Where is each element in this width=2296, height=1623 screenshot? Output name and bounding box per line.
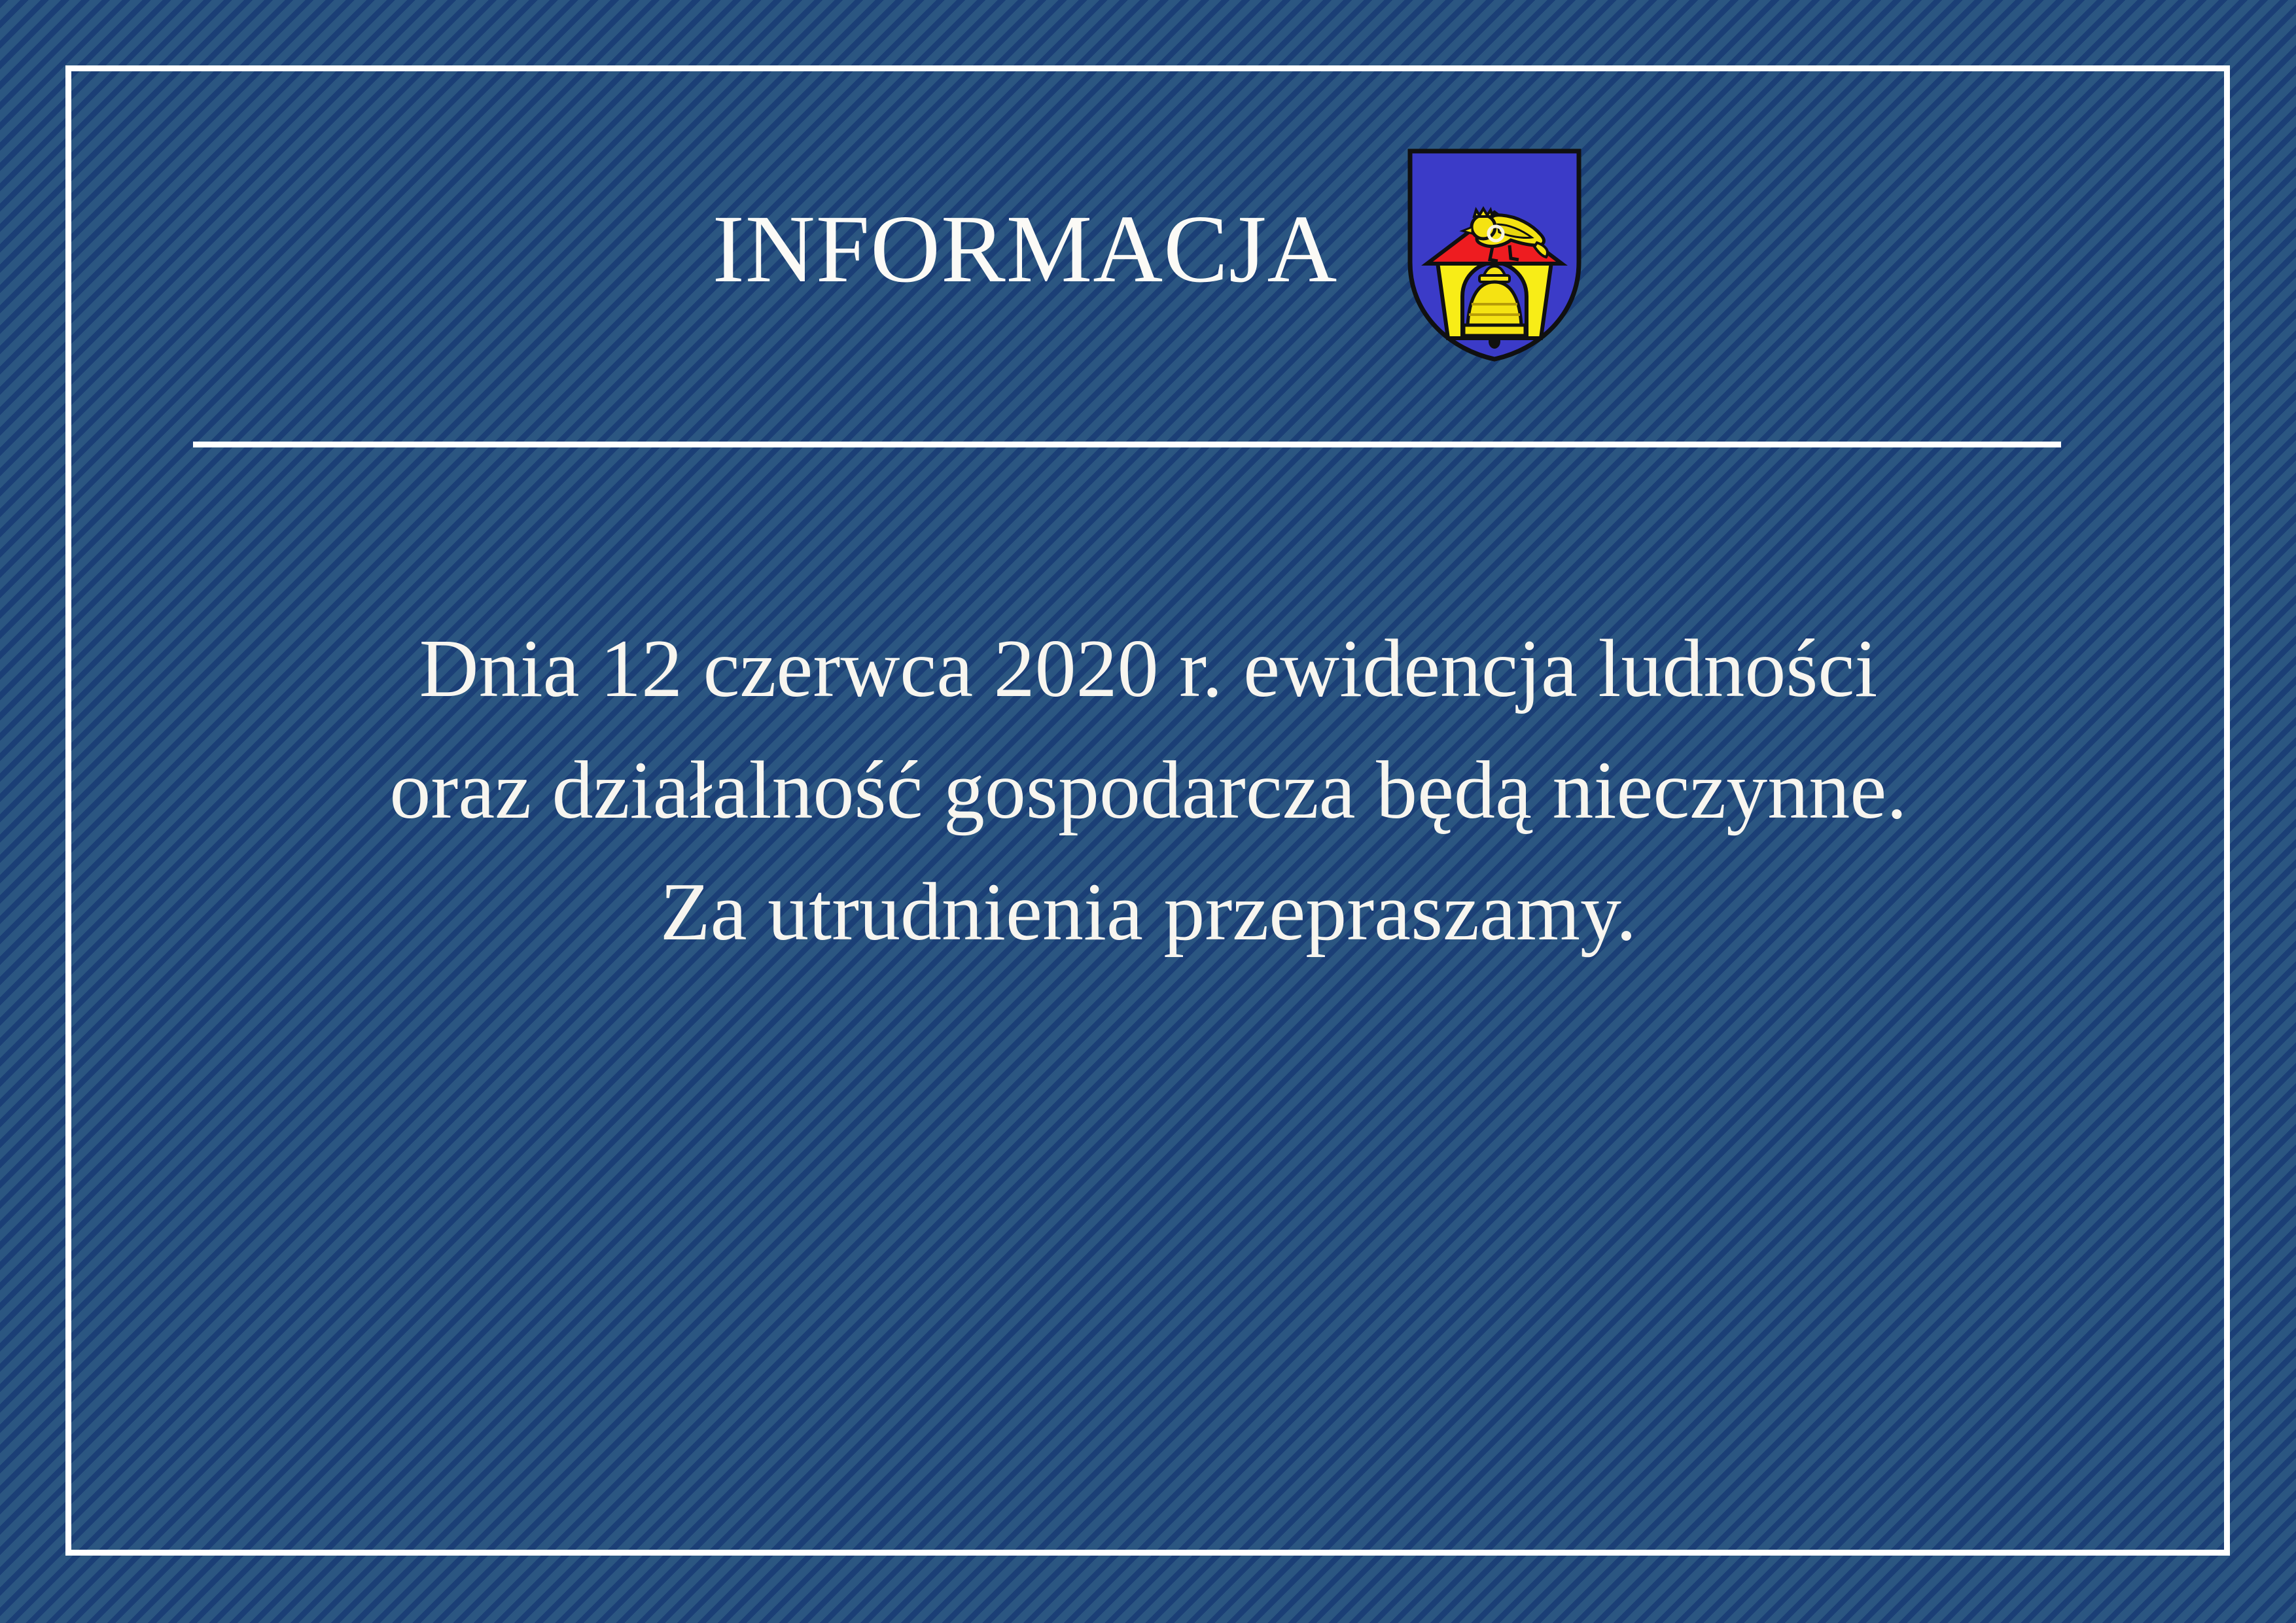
poster-header: INFORMACJA	[65, 118, 2230, 393]
announcement-text: Dnia 12 czerwca 2020 r. ewidencja ludnoś…	[105, 608, 2192, 973]
announcement-line-2: oraz działalność gospodarcza będą nieczy…	[105, 730, 2192, 852]
page-title: INFORMACJA	[713, 201, 1338, 298]
coat-of-arms-icon	[1406, 147, 1583, 363]
announcement-line-3: Za utrudnienia przepraszamy.	[105, 852, 2192, 973]
information-poster: INFORMACJA	[0, 0, 2296, 1623]
header-divider	[193, 442, 2061, 447]
announcement-line-1: Dnia 12 czerwca 2020 r. ewidencja ludnoś…	[105, 608, 2192, 730]
